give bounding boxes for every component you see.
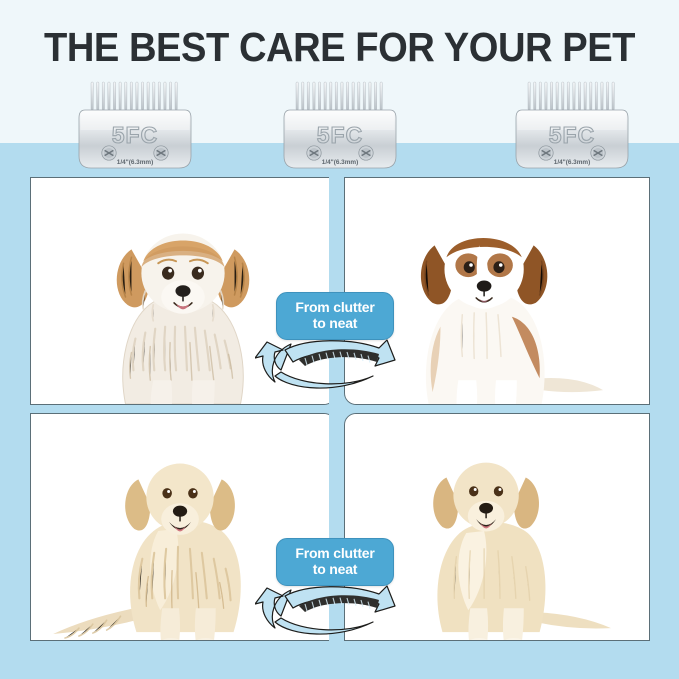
page-title: THE BEST CARE FOR YOUR PET: [24, 27, 655, 68]
callout-line2: to neat: [313, 561, 358, 577]
callout-bottom: From clutter to neat: [255, 538, 415, 640]
svg-text:5FC: 5FC: [112, 122, 158, 148]
callout-badge-top: From clutter to neat: [276, 292, 394, 340]
callout-top: From clutter to neat: [255, 292, 415, 394]
curved-arrow-icon-bottom: [255, 582, 415, 640]
product-poster: THE BEST CARE FOR YOUR PET: [0, 0, 679, 679]
clipper-blade-icon-1: 5FC 1/4"(6.3mm): [73, 80, 197, 172]
clipper-blade-icon-2: 5FC 1/4"(6.3mm): [278, 80, 402, 172]
callout-badge-bottom: From clutter to neat: [276, 538, 394, 586]
svg-text:1/4"(6.3mm): 1/4"(6.3mm): [117, 159, 153, 166]
callout-line1: From clutter: [295, 299, 374, 315]
curved-arrow-icon-top: [255, 336, 415, 394]
callout-line1: From clutter: [295, 545, 374, 561]
callout-line2: to neat: [313, 315, 358, 331]
svg-text:1/4"(6.3mm): 1/4"(6.3mm): [322, 159, 358, 166]
svg-text:1/4"(6.3mm): 1/4"(6.3mm): [554, 159, 590, 166]
clipper-blade-icon-3: 5FC 1/4"(6.3mm): [510, 80, 634, 172]
svg-text:5FC: 5FC: [549, 122, 595, 148]
svg-text:5FC: 5FC: [317, 122, 363, 148]
